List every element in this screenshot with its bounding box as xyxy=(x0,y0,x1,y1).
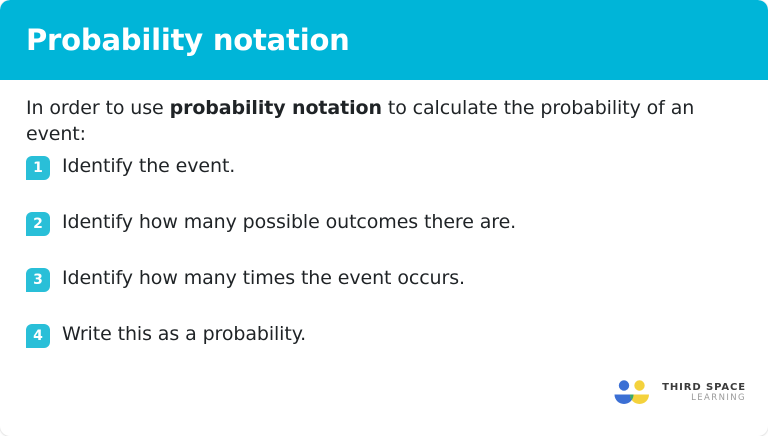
logo-wordmark: THIRD SPACE LEARNING xyxy=(653,382,746,403)
step-label: Write this as a probability. xyxy=(50,321,306,349)
slide-card: Probability notation In order to use pro… xyxy=(0,0,768,436)
third-space-learning-logo-icon xyxy=(611,378,653,408)
list-item: 3 Identify how many times the event occu… xyxy=(26,265,742,321)
step-label: Identify how many possible outcomes ther… xyxy=(50,209,516,237)
steps-list: 1 Identify the event. 2 Identify how man… xyxy=(26,153,742,377)
step-number-badge: 2 xyxy=(26,212,50,236)
step-number-badge: 3 xyxy=(26,268,50,292)
step-label: Identify the event. xyxy=(50,153,235,181)
page-title: Probability notation xyxy=(0,26,350,55)
logo-line-secondary: LEARNING xyxy=(662,394,746,404)
intro-text-before: In order to use xyxy=(26,97,170,119)
intro-text-bold: probability notation xyxy=(170,97,382,119)
step-label: Identify how many times the event occurs… xyxy=(50,265,465,293)
step-number-badge: 4 xyxy=(26,324,50,348)
list-item: 1 Identify the event. xyxy=(26,153,742,209)
step-number-badge: 1 xyxy=(26,156,50,180)
list-item: 2 Identify how many possible outcomes th… xyxy=(26,209,742,265)
list-item: 4 Write this as a probability. xyxy=(26,321,742,377)
header-bar: Probability notation xyxy=(0,0,768,80)
brand-logo: THIRD SPACE LEARNING xyxy=(611,378,746,408)
intro-text: In order to use probability notation to … xyxy=(26,96,742,147)
